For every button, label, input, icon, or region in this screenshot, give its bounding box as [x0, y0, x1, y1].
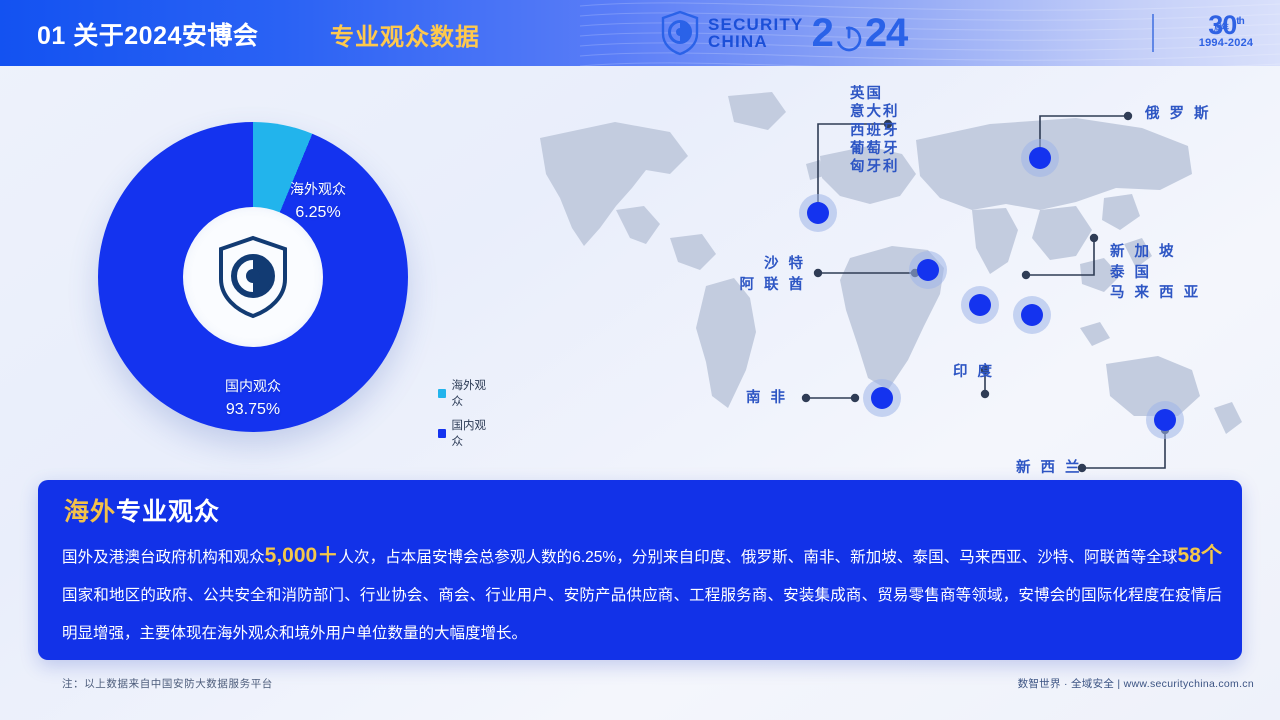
chart-legend: 海外观众 国内观众 [438, 377, 490, 457]
map-label-europe-col-1: 英国 英意西葡匈 [850, 85, 865, 176]
panel-text-3: 国家和地区的政府、公共安全和消防部门、行业协会、商会、行业用户、安防产品供应商、… [62, 587, 1222, 642]
map-marker-india [961, 286, 999, 324]
map-marker-south-africa [863, 379, 901, 417]
page-title: 01 关于2024安博会 [37, 16, 258, 52]
map-marker-new-zealand [1146, 401, 1184, 439]
map-label-new-zealand: 新 西 兰 [1016, 458, 1083, 479]
map-label-southeast-asia: 新 加 坡 泰 国 马 来 西 亚 [1110, 242, 1201, 304]
anniversary-zh: 周年 [1214, 22, 1228, 33]
slide-header: 01 关于2024安博会 专业观众数据 SECURITY CHINA 2 [0, 0, 1280, 66]
security-china-logo: SECURITY CHINA 2 24 [660, 7, 907, 59]
logo-year-suffix: 24 [865, 11, 908, 56]
map-label-india: 印 度 [953, 362, 995, 383]
legend-label-domestic: 国内观众 [452, 417, 490, 449]
map-label-europe-col-3: 利牙牙利 [883, 85, 898, 176]
legend-item-overseas: 海外观众 [438, 377, 490, 409]
logo-line-security: SECURITY [708, 16, 804, 33]
section-subtitle: 专业观众数据 [330, 17, 480, 52]
map-marker-europe [799, 194, 837, 232]
audience-donut-chart: 海外观众 6.25% 国内观众 93.75% 海外观众 国内观众 [70, 92, 490, 472]
shield-center-icon [216, 235, 290, 319]
world-map: 英国 英意西葡匈 国大班萄牙 利牙牙利 俄 罗 斯 沙 特 阿 联 酋 新 加 … [520, 78, 1270, 478]
slide: 01 关于2024安博会 专业观众数据 SECURITY CHINA 2 [0, 0, 1280, 720]
anniversary-badge: 30th 周年 1994-2024 [1180, 10, 1272, 58]
donut-label-overseas-percent: 6.25% [238, 200, 398, 226]
donut-label-overseas: 海外观众 6.25% [238, 178, 398, 226]
map-label-middle-east: 沙 特 阿 联 酋 [696, 254, 806, 295]
panel-body-text: 国外及港澳台政府机构和观众5,000＋人次，占本届安博会总参观人数的6.25%，… [62, 537, 1222, 653]
donut-label-domestic: 国内观众 93.75% [173, 375, 333, 423]
donut-label-domestic-name: 国内观众 [173, 375, 333, 397]
logo-year: 2 24 [812, 10, 908, 56]
map-label-south-africa: 南 非 [746, 388, 788, 409]
panel-highlight-58: 58个 [1178, 544, 1222, 567]
logo-wordmark: SECURITY CHINA [708, 16, 804, 50]
map-label-thailand: 泰 国 [1110, 263, 1201, 284]
panel-highlight-5000: 5,000＋ [265, 544, 339, 567]
header-divider [1152, 14, 1154, 52]
map-label-malaysia: 马 来 西 亚 [1110, 283, 1201, 304]
panel-title-gold: 海外 [64, 498, 116, 526]
map-label-europe: 英国 英意西葡匈 国大班萄牙 利牙牙利 [850, 85, 898, 176]
logo-line-china: CHINA [708, 33, 804, 50]
logo-year-prefix: 2 [812, 11, 833, 56]
legend-swatch-domestic [438, 429, 446, 438]
map-label-europe-col-2: 国大班萄牙 [867, 85, 882, 176]
overseas-audience-panel: 海外专业观众 国外及港澳台政府机构和观众5,000＋人次，占本届安博会总参观人数… [38, 480, 1242, 660]
panel-title-white: 专业观众 [116, 498, 220, 526]
map-marker-russia [1021, 139, 1059, 177]
footer-slogan: 数智世界 · 全域安全 | www.securitychina.com.cn [1018, 676, 1254, 691]
donut-label-domestic-percent: 93.75% [173, 397, 333, 423]
panel-title: 海外专业观众 [64, 492, 220, 528]
map-label-russia: 俄 罗 斯 [1145, 104, 1212, 125]
legend-item-domestic: 国内观众 [438, 417, 490, 449]
legend-label-overseas: 海外观众 [452, 377, 490, 409]
section-number: 01 [37, 22, 66, 50]
shield-logo-icon [660, 10, 700, 56]
anniversary-number: 30th 周年 [1180, 10, 1272, 41]
section-title: 关于2024安博会 [73, 22, 258, 50]
map-marker-southeast-asia [1013, 296, 1051, 334]
map-label-saudi: 沙 特 [696, 254, 806, 275]
legend-swatch-overseas [438, 389, 446, 398]
panel-text-1: 国外及港澳台政府机构和观众 [62, 549, 265, 566]
power-icon [834, 18, 864, 48]
map-label-singapore: 新 加 坡 [1110, 242, 1201, 263]
map-marker-middle-east [909, 251, 947, 289]
anniversary-suffix: th [1236, 16, 1243, 27]
panel-text-2: 人次，占本届安博会总参观人数的6.25%，分别来自印度、俄罗斯、南非、新加坡、泰… [338, 549, 1177, 566]
footnote: 注：以上数据来自中国安防大数据服务平台 [62, 676, 273, 691]
donut-label-overseas-name: 海外观众 [238, 178, 398, 200]
map-label-uae: 阿 联 酋 [696, 275, 806, 296]
